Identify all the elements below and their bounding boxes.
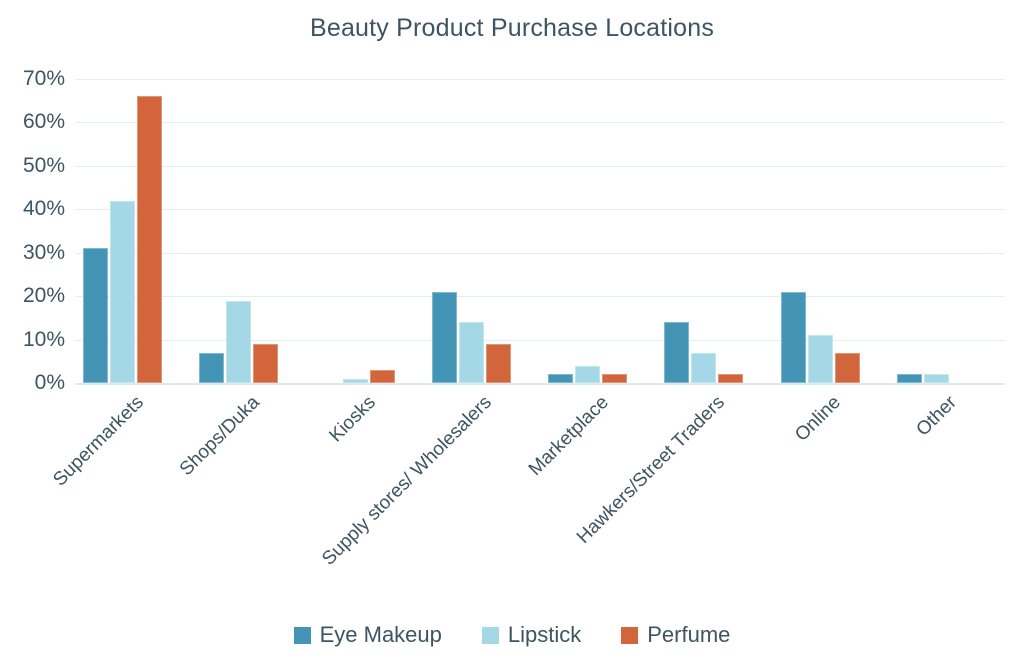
bar[interactable] <box>199 353 224 383</box>
bar-group <box>548 79 627 383</box>
plot-area <box>75 79 1005 383</box>
legend-swatch-icon <box>621 627 638 644</box>
chart-legend: Eye MakeupLipstickPerfume <box>0 622 1024 648</box>
bar[interactable] <box>110 201 135 383</box>
bar[interactable] <box>835 353 860 383</box>
y-tick-label: 50% <box>0 154 65 178</box>
x-tick-label: Online <box>791 392 845 446</box>
bar-group <box>199 79 278 383</box>
y-tick-label: 20% <box>0 284 65 308</box>
bar[interactable] <box>691 353 716 383</box>
y-tick-label: 70% <box>0 67 65 91</box>
x-tick-label-wrap: Shops/Duka <box>176 392 265 481</box>
x-tick-label-wrap: Kiosks <box>325 392 380 447</box>
bar[interactable] <box>781 292 806 383</box>
y-tick-label: 60% <box>0 110 65 134</box>
bar[interactable] <box>226 301 251 384</box>
x-tick-label: Supermarkets <box>49 392 148 491</box>
bar[interactable] <box>432 292 457 383</box>
legend-item[interactable]: Perfume <box>621 622 730 648</box>
gridline <box>75 383 1005 385</box>
x-tick-label: Marketplace <box>524 392 613 481</box>
bar[interactable] <box>718 374 743 383</box>
bar-group <box>897 79 976 383</box>
bar-chart: Beauty Product Purchase Locations 70%60%… <box>0 0 1024 661</box>
legend-swatch-icon <box>294 627 311 644</box>
legend-label: Eye Makeup <box>320 622 442 648</box>
legend-swatch-icon <box>482 627 499 644</box>
x-tick-label-wrap: Online <box>791 392 845 446</box>
bar[interactable] <box>924 374 949 383</box>
y-tick-label: 40% <box>0 197 65 221</box>
bar-group <box>316 79 395 383</box>
x-tick-label-wrap: Marketplace <box>524 392 613 481</box>
x-tick-label: Other <box>913 392 962 441</box>
bar[interactable] <box>548 374 573 383</box>
x-tick-label: Kiosks <box>325 392 380 447</box>
bar-group <box>83 79 162 383</box>
x-tick-label: Shops/Duka <box>176 392 265 481</box>
bar[interactable] <box>664 322 689 383</box>
x-tick-label-wrap: Supermarkets <box>49 392 148 491</box>
bar-group <box>664 79 743 383</box>
bar[interactable] <box>602 374 627 383</box>
chart-title: Beauty Product Purchase Locations <box>0 14 1024 43</box>
y-tick-label: 30% <box>0 241 65 265</box>
x-tick-label-wrap: Other <box>913 392 962 441</box>
bar[interactable] <box>83 248 108 383</box>
bar[interactable] <box>370 370 395 383</box>
y-tick-label: 0% <box>0 371 65 395</box>
legend-item[interactable]: Eye Makeup <box>294 622 442 648</box>
legend-item[interactable]: Lipstick <box>482 622 581 648</box>
bar[interactable] <box>897 374 922 383</box>
bar[interactable] <box>459 322 484 383</box>
bar[interactable] <box>808 335 833 383</box>
legend-label: Lipstick <box>508 622 581 648</box>
bar-group <box>432 79 511 383</box>
bar[interactable] <box>575 366 600 383</box>
bar-group <box>781 79 860 383</box>
bar[interactable] <box>343 379 368 383</box>
bar[interactable] <box>253 344 278 383</box>
bar[interactable] <box>137 96 162 383</box>
bar[interactable] <box>486 344 511 383</box>
legend-label: Perfume <box>647 622 730 648</box>
y-tick-label: 10% <box>0 328 65 352</box>
